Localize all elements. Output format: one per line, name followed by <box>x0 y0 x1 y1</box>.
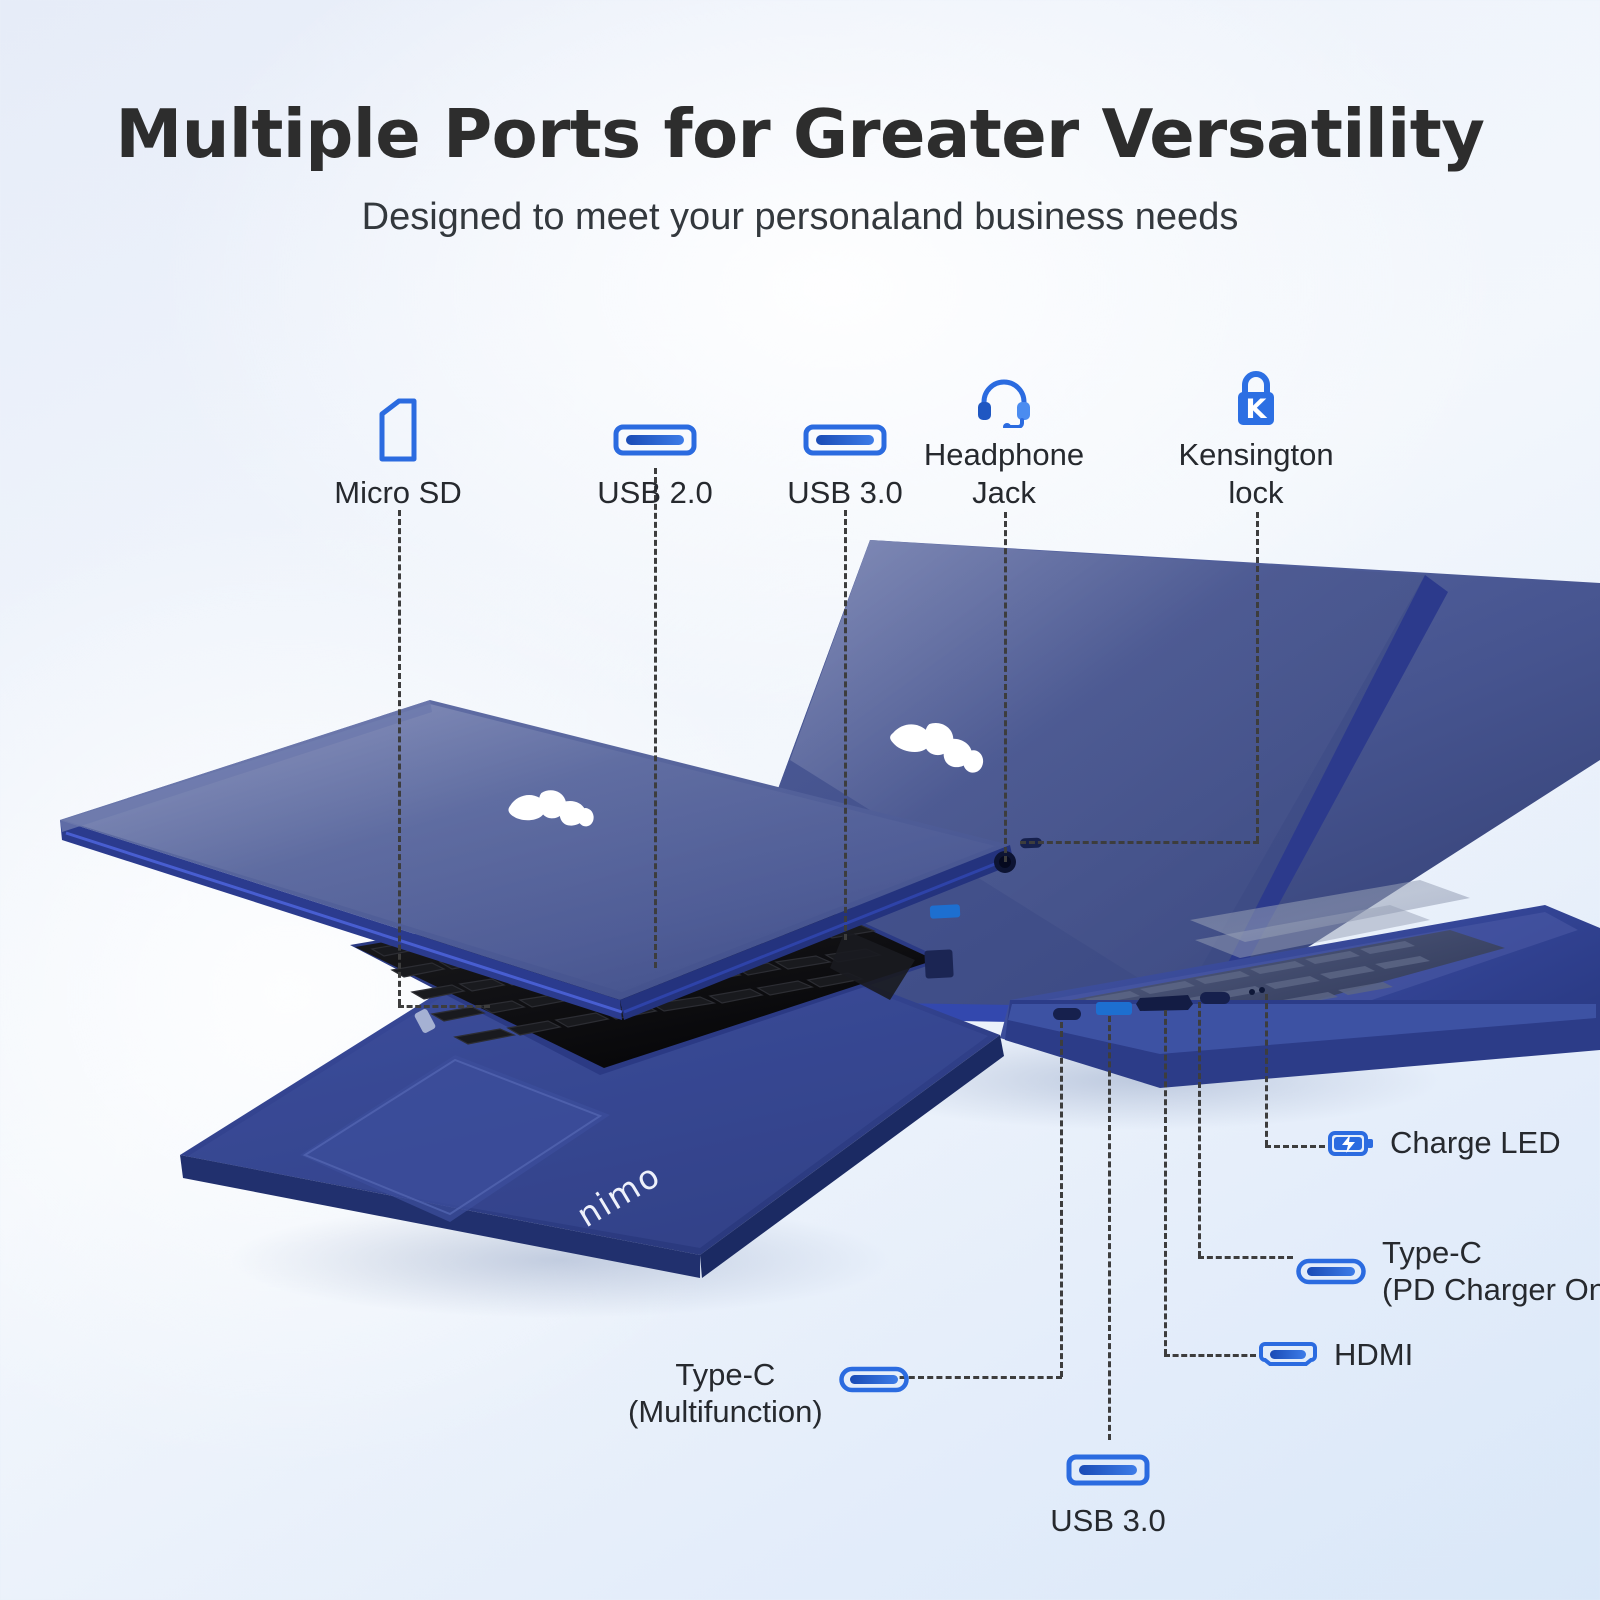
battery-charging-icon <box>1328 1128 1374 1158</box>
callout-headphone-jack-line2: Jack <box>884 474 1124 512</box>
leader-usb20 <box>654 468 657 968</box>
type-c-icon <box>839 1364 909 1394</box>
leader-charge-led-elbow <box>1265 1145 1325 1148</box>
page-subtitle: Designed to meet your personaland busine… <box>0 196 1600 239</box>
leader-typec-pd-elbow <box>1198 1256 1293 1259</box>
svg-text:M: M <box>702 903 714 917</box>
svg-text:J: J <box>713 874 719 888</box>
hdmi-icon <box>1258 1340 1318 1370</box>
leader-charge-led <box>1265 994 1268 1146</box>
callout-usb-30-bottom-label: USB 3.0 <box>1000 1502 1216 1540</box>
leader-kensington <box>1256 512 1259 842</box>
svg-text:X: X <box>502 933 512 947</box>
callout-micro-sd[interactable]: Micro SD <box>278 398 518 512</box>
svg-text:K: K <box>754 867 764 881</box>
leader-micro-sd <box>398 510 401 1005</box>
callout-micro-sd-label: Micro SD <box>278 474 518 512</box>
usb-icon <box>613 420 697 460</box>
callout-type-c-multifunction-text: Type-C (Multifunction) <box>628 1356 823 1430</box>
infographic-canvas: Multiple Ports for Greater Versatility D… <box>0 0 1600 1600</box>
type-c-icon <box>1296 1256 1366 1286</box>
callout-type-c-multifunction-line2: (Multifunction) <box>628 1393 823 1430</box>
svg-text:Z: Z <box>462 939 472 953</box>
callout-hdmi-label: HDMI <box>1334 1336 1413 1373</box>
leader-typec-multi <box>1060 1022 1063 1377</box>
usb-icon <box>803 420 887 460</box>
svg-text:K: K <box>1246 394 1268 425</box>
callout-headphone-jack-line1: Headphone <box>884 436 1124 474</box>
brand-wordmark: nimo <box>570 1155 668 1235</box>
callout-kensington-lock[interactable]: K Kensington lock <box>1136 370 1376 512</box>
callout-kensington-lock-line1: Kensington <box>1136 436 1376 474</box>
callout-usb-30-bottom[interactable]: USB 3.0 <box>1000 1452 1216 1540</box>
usb-icon <box>1066 1452 1150 1488</box>
callout-type-c-pd-text: Type-C (PD Charger Only) <box>1382 1234 1600 1308</box>
svg-text:B: B <box>622 915 632 929</box>
callout-charge-led-label: Charge LED <box>1390 1124 1561 1161</box>
micro-sd-icon <box>372 398 424 462</box>
callout-type-c-multifunction-line1: Type-C <box>628 1356 823 1393</box>
leader-kensington-elbow <box>1020 841 1259 844</box>
leader-typec-pd <box>1198 1002 1201 1257</box>
leader-micro-sd-elbow <box>398 1005 490 1008</box>
leader-hdmi-elbow <box>1164 1354 1256 1357</box>
callout-type-c-pd-line1: Type-C <box>1382 1234 1600 1271</box>
leader-usb30-bottom <box>1108 1016 1111 1440</box>
callout-charge-led[interactable]: Charge LED <box>1328 1124 1561 1161</box>
svg-text:V: V <box>582 921 592 935</box>
callout-headphone-jack[interactable]: Headphone Jack <box>884 378 1124 512</box>
leader-headphone-jack <box>1004 512 1007 862</box>
callout-type-c-multifunction[interactable]: Type-C (Multifunction) <box>628 1356 909 1430</box>
callout-kensington-lock-line2: lock <box>1136 474 1376 512</box>
leader-usb30-top <box>844 510 847 940</box>
svg-text:L: L <box>794 861 803 875</box>
callout-type-c-pd[interactable]: Type-C (PD Charger Only) <box>1296 1234 1600 1308</box>
callout-type-c-pd-line2: (PD Charger Only) <box>1382 1271 1600 1308</box>
leader-hdmi <box>1164 1010 1167 1355</box>
callout-hdmi[interactable]: HDMI <box>1258 1336 1413 1373</box>
headset-icon <box>976 378 1032 428</box>
svg-text:C: C <box>542 927 552 941</box>
svg-text:N: N <box>662 909 672 923</box>
kensington-lock-icon: K <box>1231 370 1281 428</box>
page-title: Multiple Ports for Greater Versatility <box>0 95 1600 173</box>
